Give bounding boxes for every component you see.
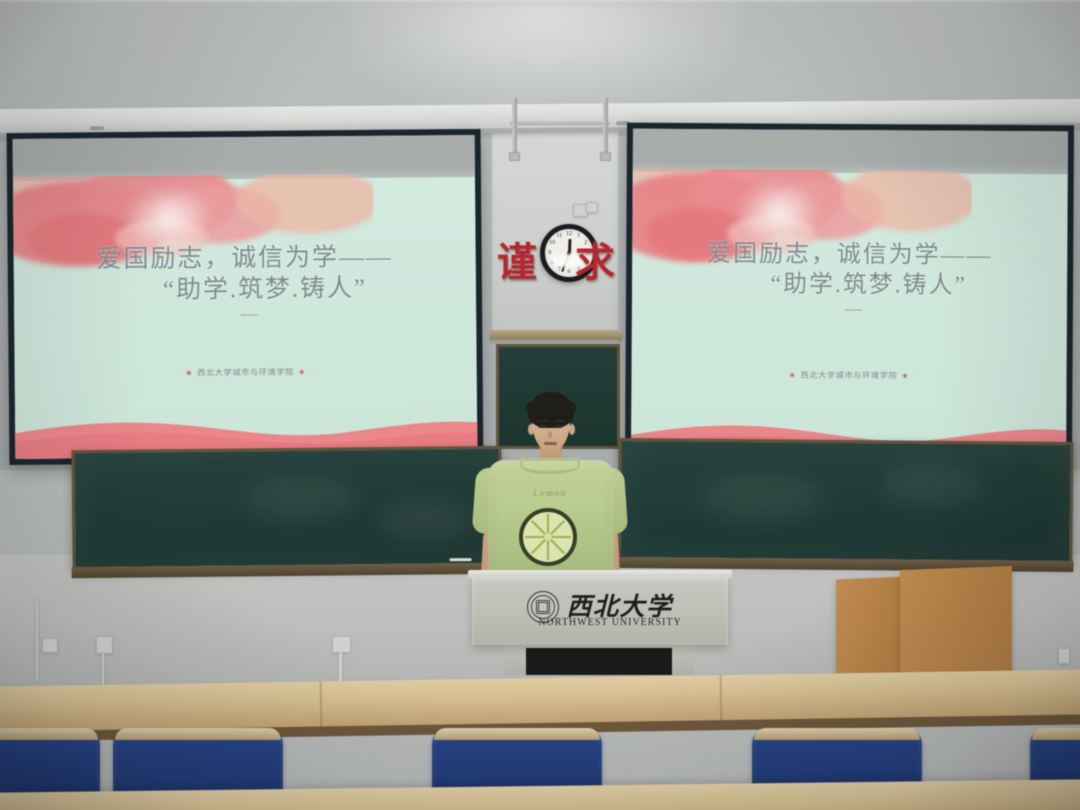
eye-left — [538, 425, 546, 428]
valance-notch — [90, 126, 104, 130]
chalk-piece — [450, 558, 472, 561]
desk-seam — [320, 681, 323, 727]
slide-title-block-right: 爱国励志，诚信为学—— “助学.筑梦.铸人” — — [632, 239, 1067, 321]
wall-outlet[interactable] — [1058, 648, 1070, 664]
footer-star-icon: ★ — [789, 370, 797, 379]
eyebrow-right — [554, 420, 565, 422]
slide-title-line-3: — — [14, 302, 476, 326]
ear-right — [569, 424, 575, 435]
clock-numeral: 6 — [568, 269, 571, 275]
chair-crest-rail — [115, 728, 281, 740]
podium-front-face: 西北大学 NORTHWEST UNIVERSITY — [472, 577, 728, 645]
footer-star-icon: ★ — [298, 368, 306, 377]
shirt-collar — [520, 458, 580, 474]
clock-numeral: 7 — [558, 267, 561, 273]
chalk-smudge — [380, 500, 470, 541]
screen-mount-leg-left — [512, 98, 517, 160]
footer-dot-icon: · — [176, 370, 179, 376]
clock-numeral: 1 — [577, 233, 580, 239]
chair-backrest — [0, 728, 100, 800]
footer-dot-icon: · — [312, 369, 315, 375]
blackboard-right — [617, 438, 1073, 564]
footer-star-icon: ★ — [185, 369, 193, 378]
mouth — [544, 442, 557, 445]
slide-left: 爱国励志，诚信为学—— “助学.筑梦.铸人” — ·★西北大学城市与环境学院★· — [13, 135, 478, 459]
eyebrow-left — [537, 420, 548, 422]
podium-brand-en: NORTHWEST UNIVERSITY — [530, 617, 690, 628]
citrus-slice-icon — [519, 508, 577, 566]
projection-screen-right: 爱国励志，诚信为学—— “助学.筑梦.铸人” — ·★西北大学城市与环境学院★· — [625, 123, 1074, 471]
slide-title-line-3: — — [632, 298, 1067, 321]
shirt-wordmark: Lemon — [470, 488, 630, 498]
slide-title-block-left: 爱国励志，诚信为学—— “助学.筑梦.铸人” — — [14, 241, 477, 327]
chair-crest-rail — [1032, 728, 1080, 740]
podium-brand-cn: 西北大学 — [566, 595, 672, 620]
cloud-highlight — [121, 184, 215, 250]
screen-mount-clip — [600, 152, 611, 161]
projection-screen-left: 爱国励志，诚信为学—— “助学.筑梦.铸人” — ·★西北大学城市与环境学院★· — [7, 129, 484, 465]
wall-outlet[interactable] — [42, 638, 58, 653]
slide-footer-org: 西北大学城市与环境学院 — [197, 368, 294, 378]
wall-motto-char-right: 求 — [575, 243, 615, 283]
eye-right — [555, 425, 563, 428]
chalk-smudge — [702, 471, 822, 522]
slide-footer-org: 西北大学城市与环境学院 — [801, 370, 898, 380]
clock-numeral: 12 — [566, 231, 572, 237]
cloud-highlight — [734, 178, 823, 246]
citrus-center — [544, 533, 552, 541]
slide-right: 爱国励志，诚信为学—— “助学.筑梦.铸人” — ·★西北大学城市与环境学院★· — [631, 129, 1068, 465]
footer-dot-icon: · — [780, 371, 783, 377]
conduit — [101, 652, 105, 688]
blackboard-left — [71, 446, 502, 570]
screen-mount-clip — [509, 152, 520, 161]
wooden-shelf — [490, 330, 622, 340]
desk-seam — [720, 675, 723, 721]
footer-dot-icon: · — [915, 372, 918, 378]
wall-outlet[interactable] — [332, 636, 351, 653]
chair-crest-rail — [0, 728, 98, 740]
chair-crest-rail — [754, 728, 920, 740]
clock-numeral: 11 — [557, 233, 563, 239]
screen-mount-leg-right — [603, 98, 608, 160]
chalk-smudge — [244, 473, 354, 520]
conduit — [35, 598, 39, 682]
podium-cavity — [526, 648, 672, 675]
footer-star-icon: ★ — [901, 371, 909, 380]
nose — [548, 431, 552, 438]
lecture-hall-photo: 爱国励志，诚信为学—— “助学.筑梦.铸人” — ·★西北大学城市与环境学院★· — [0, 0, 1080, 810]
wall-motto-char-left: 谨 — [497, 243, 537, 283]
chalk-smudge — [881, 461, 981, 506]
clock-numeral: 9 — [548, 250, 551, 256]
podium: 西北大学 NORTHWEST UNIVERSITY — [468, 570, 732, 675]
chair[interactable] — [0, 722, 100, 800]
slide-title-line-1: 爱国励志，诚信为学—— — [14, 241, 476, 276]
screen-mount-bar — [510, 120, 610, 125]
presenter: Lemon — [470, 392, 630, 592]
hair-fringe — [526, 398, 576, 416]
clock-numeral: 10 — [549, 240, 555, 246]
slide-title-line-1: 爱国励志，诚信为学—— — [632, 239, 1067, 272]
chair-crest-rail — [434, 728, 600, 740]
chair[interactable] — [113, 722, 283, 800]
wall-junction-box — [586, 202, 598, 213]
